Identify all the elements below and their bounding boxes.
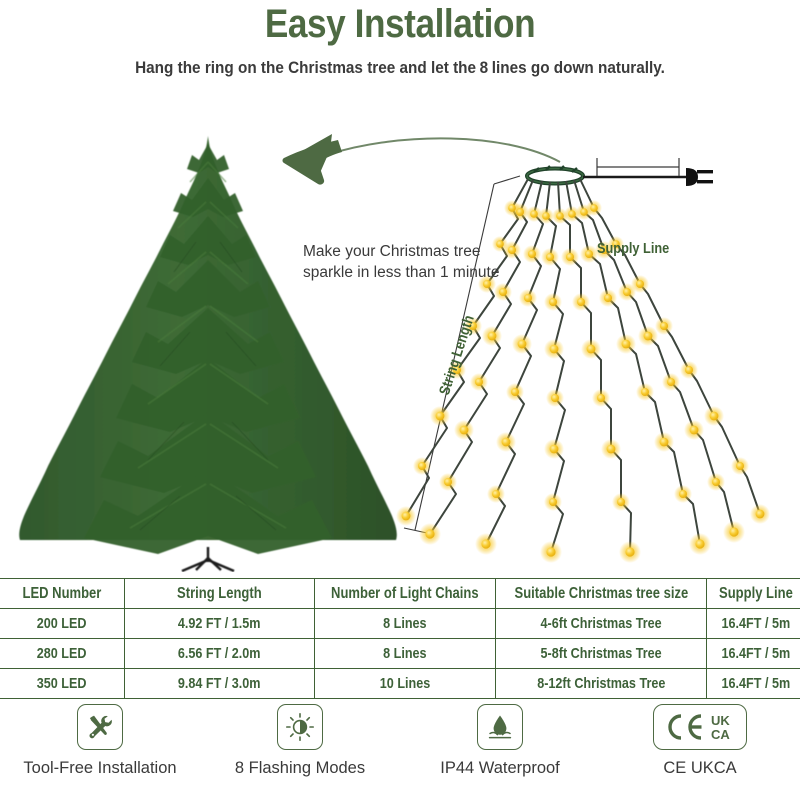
feature-icon-box: UK CA [653, 704, 747, 750]
table-cell: 4-6ft Christmas Tree [496, 609, 707, 639]
table-header-row: LED Number String Length Number of Light… [0, 579, 800, 609]
feature-ce-ukca: UK CA CE UKCA [600, 700, 800, 778]
specification-table: LED Number String Length Number of Light… [0, 578, 800, 699]
table-cell: 10 Lines [315, 669, 496, 699]
christmas-tree-illustration [19, 136, 397, 571]
feature-row: Tool-Free Installation 8 Flashing Modes [0, 700, 800, 800]
table-cell: 9.84 FT / 3.0m [125, 669, 315, 699]
feature-label: Tool-Free Installation [0, 759, 200, 778]
table-cell: 16.4FT / 5m [707, 609, 800, 639]
table-cell: 8 Lines [315, 609, 496, 639]
supply-line-dimension [597, 158, 679, 176]
table-row: 350 LED 9.84 FT / 3.0m 10 Lines 8-12ft C… [0, 669, 800, 699]
sparkle-note-line2: sparkle in less than 1 minute [303, 263, 499, 284]
feature-label: IP44 Waterproof [400, 759, 600, 778]
supply-line-label: Supply Line [597, 240, 669, 257]
table-cell: 200 LED [0, 609, 125, 639]
ce-ukca-mark-icon: UK CA [661, 710, 739, 744]
table-header-cell: Number of Light Chains [315, 579, 496, 609]
table-row: 280 LED 6.56 FT / 2.0m 8 Lines 5-8ft Chr… [0, 639, 800, 669]
feature-label: 8 Flashing Modes [200, 759, 400, 778]
table-cell: 4.92 FT / 1.5m [125, 609, 315, 639]
table-cell: 350 LED [0, 669, 125, 699]
subtitle-text-after: lines go down naturally. [492, 58, 665, 77]
table-cell: 8-12ft Christmas Tree [496, 669, 707, 699]
feature-label: CE UKCA [600, 759, 800, 778]
subtitle-text-before: Hang the ring on the Christmas tree and … [135, 58, 476, 77]
table-header-cell: Suitable Christmas tree size [496, 579, 707, 609]
brightness-sun-icon [285, 712, 315, 742]
feature-icon-box [77, 704, 123, 750]
sparkle-note: Make your Christmas tree sparkle in less… [303, 242, 499, 284]
page-subtitle: Hang the ring on the Christmas tree and … [40, 58, 760, 78]
infographic-page: Easy Installation Hang the ring on the C… [0, 0, 800, 800]
table-cell: 16.4FT / 5m [707, 639, 800, 669]
page-title: Easy Installation [48, 2, 752, 47]
feature-ip44-waterproof: IP44 Waterproof [400, 700, 600, 778]
svg-text:CA: CA [711, 727, 730, 742]
subtitle-line-count: 8 [476, 58, 492, 77]
tree-stand [182, 547, 234, 571]
feature-tool-free-installation: Tool-Free Installation [0, 700, 200, 778]
table-header-cell: String Length [125, 579, 315, 609]
svg-text:UK: UK [711, 713, 730, 728]
supply-cord [583, 168, 713, 186]
water-drop-icon [485, 712, 515, 742]
table-header-cell: LED Number [0, 579, 125, 609]
table-cell: 6.56 FT / 2.0m [125, 639, 315, 669]
table-cell: 5-8ft Christmas Tree [496, 639, 707, 669]
illustration-svg [0, 92, 800, 572]
table-cell: 280 LED [0, 639, 125, 669]
feature-flashing-modes: 8 Flashing Modes [200, 700, 400, 778]
table-header-cell: Supply Line [707, 579, 800, 609]
table-row: 200 LED 4.92 FT / 1.5m 8 Lines 4-6ft Chr… [0, 609, 800, 639]
feature-icon-box [477, 704, 523, 750]
illustration-area: Make your Christmas tree sparkle in less… [0, 92, 800, 572]
sparkle-note-line1: Make your Christmas tree [303, 242, 499, 263]
table-cell: 16.4FT / 5m [707, 669, 800, 699]
wrench-screwdriver-icon [85, 712, 115, 742]
feature-icon-box [277, 704, 323, 750]
table-cell: 8 Lines [315, 639, 496, 669]
